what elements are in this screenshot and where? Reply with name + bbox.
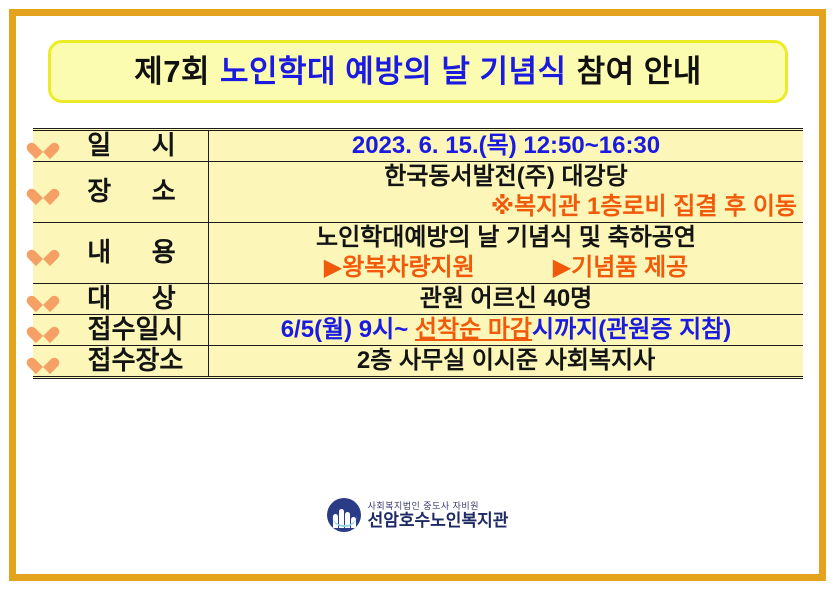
row-label-text: 장소 (63, 177, 208, 207)
apply-start: 6/5(월) 9시~ (281, 316, 415, 343)
row-label-place: 장소 (33, 162, 209, 223)
label-char: 시 (152, 131, 176, 161)
heart-icon (33, 289, 53, 308)
label-char: 소 (152, 177, 176, 207)
table-row: 대상 관원 어르신 40명 (33, 284, 803, 315)
apply-end: 시까지(관원증 지참) (532, 316, 731, 343)
perk-transport: ▶왕복차량지원 (324, 253, 475, 283)
organization-subtitle: 사회복지법인 중도사 자비원 (368, 502, 509, 511)
row-value-apply-date: 6/5(월) 9시~ 선착순 마감시까지(관원증 지참) (209, 315, 804, 346)
label-char: 용 (152, 238, 176, 268)
row-value-apply-place: 2층 사무실 이시준 사회복지사 (209, 346, 804, 378)
table-row: 일시 2023. 6. 15.(목) 12:50~16:30 (33, 130, 803, 162)
row-label-text: 대상 (63, 284, 208, 314)
heart-icon (33, 182, 53, 201)
value-line: 한국동서발전(주) 대강당 (209, 162, 803, 192)
table-row: 접수일시 6/5(월) 9시~ 선착순 마감시까지(관원증 지참) (33, 315, 803, 346)
row-value-date: 2023. 6. 15.(목) 12:50~16:30 (209, 130, 804, 162)
row-value-place: 한국동서발전(주) 대강당 ※복지관 1층로비 집결 후 이동 (209, 162, 804, 223)
row-value-target: 관원 어르신 40명 (209, 284, 804, 315)
page-title: 제7회노인학대 예방의 날 기념식참여 안내 (134, 56, 702, 87)
title-part-prefix: 제7회 (134, 54, 210, 89)
heart-icon (33, 351, 53, 370)
row-label-text: 접수일시 (63, 315, 208, 345)
organization-name: 선암호수노인복지관 (368, 512, 509, 529)
poster-root: 제7회노인학대 예방의 날 기념식참여 안내 일시 2023. 6. 15.(목… (0, 0, 835, 590)
row-label-apply-place: 접수장소 (33, 346, 209, 378)
label-char: 일 (87, 131, 111, 161)
organization-name-block: 사회복지법인 중도사 자비원 선암호수노인복지관 (368, 502, 509, 529)
row-label-target: 대상 (33, 284, 209, 315)
row-label-text: 내용 (63, 238, 208, 268)
value-line: 관원 어르신 40명 (209, 284, 803, 314)
row-label-content: 내용 (33, 223, 209, 284)
apply-deadline-highlight: 선착순 마감 (415, 316, 532, 343)
title-part-highlight: 노인학대 예방의 날 기념식 (220, 54, 567, 89)
row-label-date: 일시 (33, 130, 209, 162)
row-label-text: 접수장소 (63, 346, 208, 376)
table-row: 장소 한국동서발전(주) 대강당 ※복지관 1층로비 집결 후 이동 (33, 162, 803, 223)
perk-souvenir: ▶기념품 제공 (553, 253, 689, 283)
heart-icon (33, 136, 53, 155)
heart-icon (33, 243, 53, 262)
row-label-text: 일시 (63, 131, 208, 161)
value-line: 6/5(월) 9시~ 선착순 마감시까지(관원증 지참) (209, 315, 803, 345)
row-label-apply-date: 접수일시 (33, 315, 209, 346)
value-line: 노인학대예방의 날 기념식 및 축하공연 (209, 223, 803, 253)
heart-icon (33, 320, 53, 339)
table-row: 접수장소 2층 사무실 이시준 사회복지사 (33, 346, 803, 378)
label-char: 상 (152, 284, 176, 314)
value-line: 2023. 6. 15.(목) 12:50~16:30 (209, 131, 803, 161)
row-value-content: 노인학대예방의 날 기념식 및 축하공연 ▶왕복차량지원 ▶기념품 제공 (209, 223, 804, 284)
title-part-suffix: 참여 안내 (577, 54, 702, 89)
poster-content-area: 제7회노인학대 예방의 날 기념식참여 안내 일시 2023. 6. 15.(목… (16, 16, 819, 574)
label-char: 대 (87, 284, 111, 314)
label-char: 내 (87, 238, 111, 268)
welfare-center-logo-icon (327, 498, 361, 532)
value-line: 2층 사무실 이시준 사회복지사 (209, 346, 803, 376)
poster-title-banner: 제7회노인학대 예방의 날 기념식참여 안내 (48, 40, 788, 103)
organization-logo: 사회복지법인 중도사 자비원 선암호수노인복지관 (16, 498, 819, 532)
value-note: ※복지관 1층로비 집결 후 이동 (209, 192, 803, 222)
info-table: 일시 2023. 6. 15.(목) 12:50~16:30 장소 (33, 128, 803, 379)
value-perks: ▶왕복차량지원 ▶기념품 제공 (209, 253, 803, 283)
table-row: 내용 노인학대예방의 날 기념식 및 축하공연 ▶왕복차량지원 ▶기념품 제공 (33, 223, 803, 284)
label-char: 장 (87, 177, 111, 207)
